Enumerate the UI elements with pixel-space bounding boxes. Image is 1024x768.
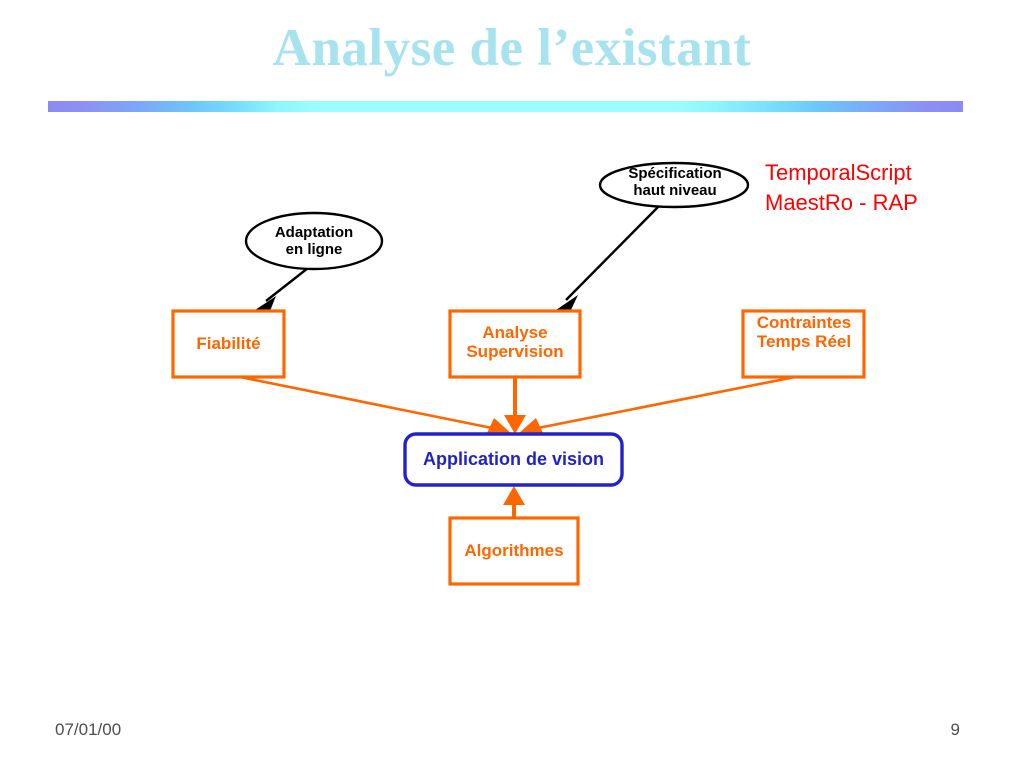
node-label-analyse-supervision: Analyse Supervision xyxy=(450,323,580,361)
diagram-canvas xyxy=(0,0,1024,768)
connector-algorithmes-to-application xyxy=(503,486,525,518)
connector-contraintes-to-application xyxy=(519,377,795,433)
connector-analyse-to-application xyxy=(504,377,526,434)
node-label-algorithmes: Algorithmes xyxy=(450,541,578,560)
footer-date: 07/01/00 xyxy=(55,720,121,740)
node-label-fiabilite: Fiabilité xyxy=(173,334,284,353)
connector-fiabilite-to-application xyxy=(240,377,511,433)
node-label-adaptation-en-ligne: Adaptation en ligne xyxy=(249,225,379,259)
slide-canvas: Analyse de l’existant xyxy=(0,0,1024,768)
connector-adaptation-to-fiabilite xyxy=(255,268,308,313)
node-label-contraintes-temps-reel: Contraintes Temps Réel xyxy=(742,313,866,351)
node-label-application-de-vision: Application de vision xyxy=(405,449,622,469)
annotation-temporalscript-maestro: TemporalScript MaestRo - RAP xyxy=(765,158,918,217)
footer-page-number: 9 xyxy=(930,720,960,740)
connector-specification-to-analyse xyxy=(556,205,660,312)
node-label-specification-haut-niveau: Spécification haut niveau xyxy=(604,166,746,200)
